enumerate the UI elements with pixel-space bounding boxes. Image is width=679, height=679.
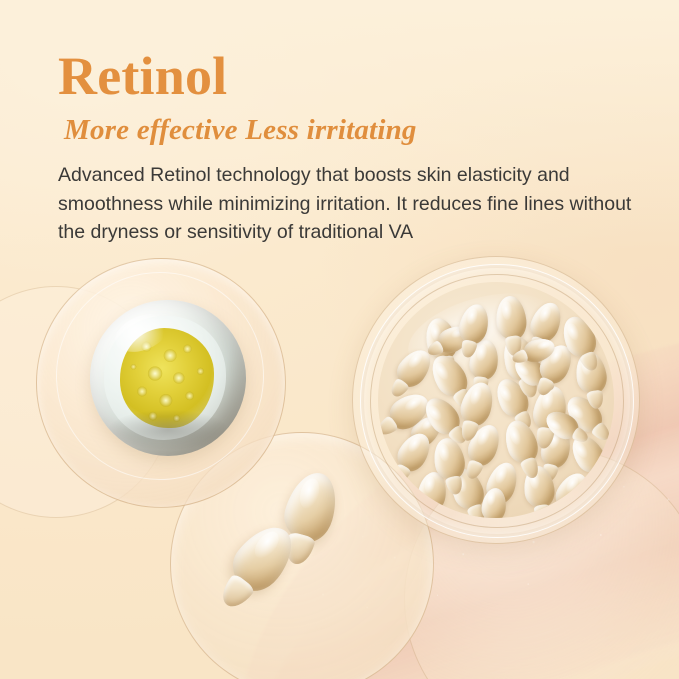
subtitle: More effective Less irritating bbox=[64, 113, 648, 148]
serum-gel-droplet bbox=[90, 300, 246, 456]
jar-bowl bbox=[378, 282, 614, 518]
gel-inner-shadow bbox=[108, 410, 228, 450]
page-title: Retinol bbox=[58, 48, 648, 105]
headline-text-block: Retinol More effective Less irritating A… bbox=[58, 48, 648, 246]
body-description: Advanced Retinol technology that boosts … bbox=[58, 161, 638, 246]
glass-capsule-jar bbox=[352, 256, 640, 544]
retinol-capsule bbox=[494, 295, 528, 342]
retinol-product-banner: Retinol More effective Less irritating A… bbox=[0, 0, 679, 679]
